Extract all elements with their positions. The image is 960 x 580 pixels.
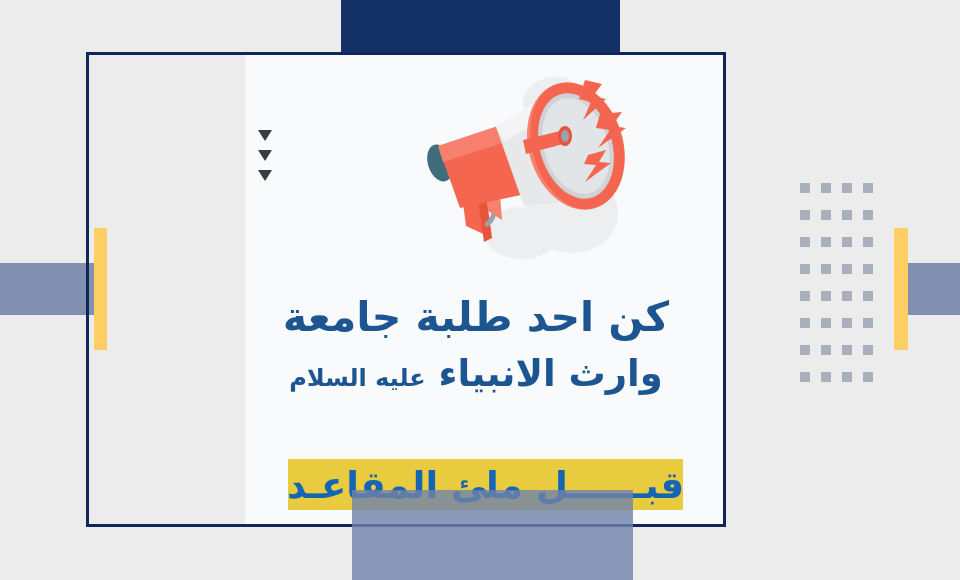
slate-bar-left bbox=[0, 263, 94, 315]
dot-grid-cell bbox=[842, 183, 852, 193]
dot-grid-cell bbox=[863, 183, 873, 193]
dot-grid-cell bbox=[842, 345, 852, 355]
dot-grid-cell bbox=[842, 237, 852, 247]
dot-grid-cell bbox=[842, 372, 852, 382]
headline-line-1: كن احد طلبة جامعة bbox=[245, 296, 707, 339]
headline-block: كن احد طلبة جامعة وارث الانبياء عليه الس… bbox=[245, 296, 707, 394]
dot-grid-cell bbox=[800, 345, 810, 355]
dot-grid-cell bbox=[821, 372, 831, 382]
dot-grid-cell bbox=[821, 210, 831, 220]
dot-grid-cell bbox=[800, 318, 810, 328]
dot-grid-cell bbox=[821, 291, 831, 301]
slate-overlay-block bbox=[352, 490, 633, 580]
dot-grid-cell bbox=[842, 264, 852, 274]
yellow-bar-right bbox=[894, 228, 908, 350]
dot-grid-cell bbox=[842, 210, 852, 220]
headline-line-2-small: عليه السلام bbox=[289, 364, 425, 392]
dot-grid-cell bbox=[800, 372, 810, 382]
triangle-down-icon bbox=[258, 130, 272, 141]
dot-grid-cell bbox=[821, 237, 831, 247]
dot-grid-cell bbox=[842, 291, 852, 301]
dot-grid-cell bbox=[863, 291, 873, 301]
dot-grid-cell bbox=[821, 183, 831, 193]
dot-grid-cell bbox=[821, 345, 831, 355]
triangle-down-icon-stack bbox=[258, 130, 272, 181]
dot-grid-cell bbox=[800, 183, 810, 193]
dot-grid-decoration bbox=[800, 183, 873, 382]
megaphone-illustration bbox=[400, 58, 640, 283]
dot-grid-cell bbox=[800, 210, 810, 220]
dot-grid-cell bbox=[800, 291, 810, 301]
headline-line-2-main: وارث الانبياء bbox=[439, 352, 663, 395]
dot-grid-cell bbox=[863, 372, 873, 382]
dot-grid-cell bbox=[863, 264, 873, 274]
slate-bar-right bbox=[908, 263, 960, 315]
dot-grid-cell bbox=[863, 210, 873, 220]
dot-grid-cell bbox=[821, 318, 831, 328]
dot-grid-cell bbox=[800, 264, 810, 274]
dot-grid-cell bbox=[863, 237, 873, 247]
dot-grid-cell bbox=[821, 264, 831, 274]
triangle-down-icon bbox=[258, 150, 272, 161]
dot-grid-cell bbox=[863, 318, 873, 328]
triangle-down-icon bbox=[258, 170, 272, 181]
dot-grid-cell bbox=[800, 237, 810, 247]
dot-grid-cell bbox=[842, 318, 852, 328]
navy-top-block bbox=[341, 0, 620, 52]
dot-grid-cell bbox=[863, 345, 873, 355]
headline-line-2: وارث الانبياء عليه السلام bbox=[245, 355, 707, 394]
poster-canvas: كن احد طلبة جامعة وارث الانبياء عليه الس… bbox=[0, 0, 960, 580]
